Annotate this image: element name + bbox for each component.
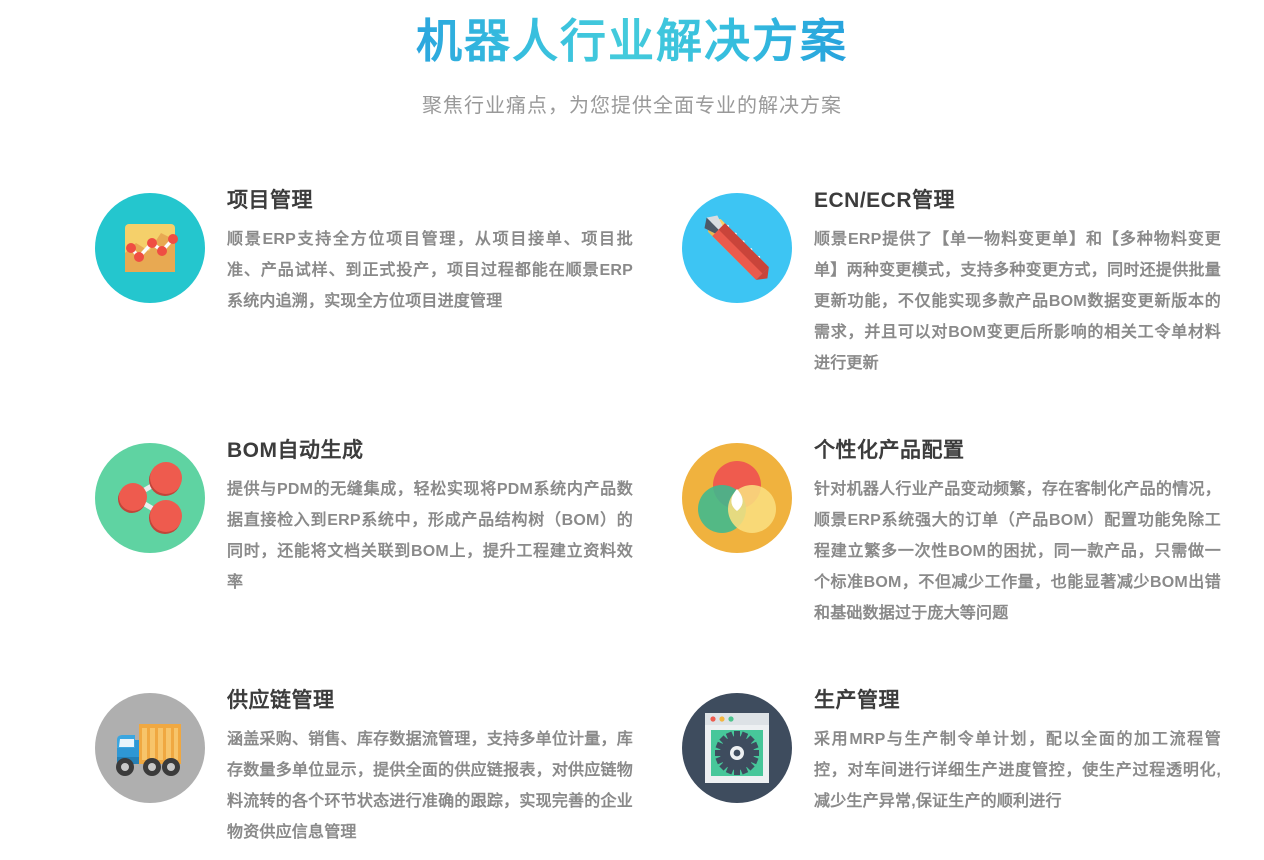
card-description: 涵盖采购、销售、库存数据流管理，支持多单位计量，库存数量多单位显示，提供全面的供… (227, 724, 633, 848)
solution-card-personalized-product-config[interactable]: 个性化产品配置 针对机器人行业产品变动频繁，存在客制化产品的情况，顺景ERP系统… (682, 420, 1221, 670)
card-description: 顺景ERP提供了【单一物料变更单】和【多种物料变更单】两种变更模式，支持多种变更… (814, 224, 1221, 379)
page-header: 机器人行业解决方案 聚焦行业痛点，为您提供全面专业的解决方案 (0, 0, 1264, 118)
share-network-icon (95, 443, 205, 553)
solution-card-project-management[interactable]: 项目管理 顺景ERP支持全方位项目管理，从项目接单、项目批准、产品试样、到正式投… (95, 170, 634, 420)
card-description: 顺景ERP支持全方位项目管理，从项目接单、项目批准、产品试样、到正式投产，项目过… (227, 224, 633, 317)
card-title: 供应链管理 (227, 688, 633, 713)
card-body: 生产管理 采用MRP与生产制令单计划，配以全面的加工流程管控，对车间进行详细生产… (814, 670, 1221, 817)
card-title: BOM自动生成 (227, 438, 633, 463)
solution-card-grid: 项目管理 顺景ERP支持全方位项目管理，从项目接单、项目批准、产品试样、到正式投… (0, 170, 1264, 860)
pencil-ruler-icon (682, 193, 792, 303)
card-title: 生产管理 (814, 688, 1221, 713)
card-description: 采用MRP与生产制令单计划，配以全面的加工流程管控，对车间进行详细生产进度管控，… (814, 724, 1221, 817)
solution-card-ecn-ecr-management[interactable]: ECN/ECR管理 顺景ERP提供了【单一物料变更单】和【多种物料变更单】两种变… (682, 170, 1221, 420)
browser-gear-icon (682, 693, 792, 803)
page-title: 机器人行业解决方案 (416, 14, 848, 69)
card-body: ECN/ECR管理 顺景ERP提供了【单一物料变更单】和【多种物料变更单】两种变… (814, 170, 1221, 379)
card-title: ECN/ECR管理 (814, 188, 1221, 213)
solution-card-supply-chain-management[interactable]: 供应链管理 涵盖采购、销售、库存数据流管理，支持多单位计量，库存数量多单位显示，… (95, 670, 634, 860)
card-title: 个性化产品配置 (814, 438, 1221, 463)
card-title: 项目管理 (227, 188, 633, 213)
solution-card-production-management[interactable]: 生产管理 采用MRP与生产制令单计划，配以全面的加工流程管控，对车间进行详细生产… (682, 670, 1221, 860)
card-description: 针对机器人行业产品变动频繁，存在客制化产品的情况，顺景ERP系统强大的订单（产品… (814, 474, 1221, 629)
card-description: 提供与PDM的无缝集成，轻松实现将PDM系统内产品数据直接检入到ERP系统中，形… (227, 474, 633, 598)
truck-icon (95, 693, 205, 803)
page-subtitle: 聚焦行业痛点，为您提供全面专业的解决方案 (0, 89, 1264, 118)
solution-card-bom-auto-generation[interactable]: BOM自动生成 提供与PDM的无缝集成，轻松实现将PDM系统内产品数据直接检入到… (95, 420, 634, 670)
card-body: 项目管理 顺景ERP支持全方位项目管理，从项目接单、项目批准、产品试样、到正式投… (227, 170, 633, 317)
card-body: BOM自动生成 提供与PDM的无缝集成，轻松实现将PDM系统内产品数据直接检入到… (227, 420, 633, 598)
card-body: 个性化产品配置 针对机器人行业产品变动频繁，存在客制化产品的情况，顺景ERP系统… (814, 420, 1221, 629)
chart-square-icon (95, 193, 205, 303)
card-body: 供应链管理 涵盖采购、销售、库存数据流管理，支持多单位计量，库存数量多单位显示，… (227, 670, 633, 848)
solutions-page: 机器人行业解决方案 聚焦行业痛点，为您提供全面专业的解决方案 (0, 0, 1264, 860)
venn-circles-icon (682, 443, 792, 553)
